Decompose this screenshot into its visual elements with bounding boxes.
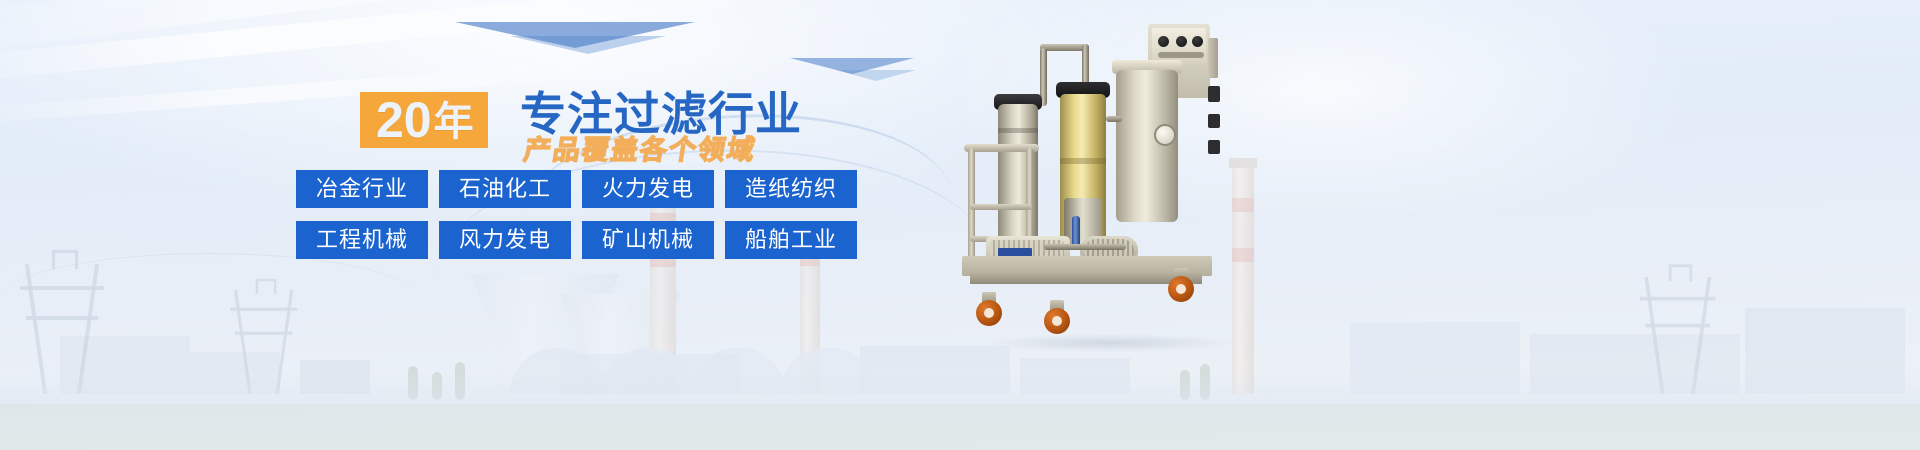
industry-tag-thermal-power[interactable]: 火力发电: [582, 170, 714, 208]
control-switch-bar: [1158, 52, 1204, 58]
pressure-gauge-icon: [1154, 124, 1176, 146]
side-fitting-block: [1208, 86, 1220, 102]
side-fitting-block: [1208, 114, 1220, 128]
years-unit: 年: [434, 102, 474, 142]
control-knob-icon: [1158, 36, 1169, 47]
caster-wheel: [976, 300, 1002, 326]
hero-copy: 20 年 专注过滤行业 产品覆盖各个领域: [296, 92, 876, 148]
side-fitting-block: [1208, 140, 1220, 154]
pipe-bottom-horizontal: [1044, 244, 1126, 250]
industry-tag-list: 冶金行业 石油化工 火力发电 造纸纺织 工程机械 风力发电 矿山机械 船舶工业: [296, 170, 866, 272]
industry-tag-construction-machinery[interactable]: 工程机械: [296, 221, 428, 259]
control-side-panel: [1208, 38, 1218, 78]
years-badge: 20 年: [360, 92, 488, 148]
caster-wheel: [1044, 308, 1070, 334]
industry-tag-row: 冶金行业 石油化工 火力发电 造纸纺织: [296, 170, 866, 208]
pipe-connector: [1106, 116, 1122, 122]
cart-base-plate-lower: [970, 272, 1202, 284]
industry-tag-petrochemical[interactable]: 石油化工: [439, 170, 571, 208]
filter-vessel-band: [1060, 158, 1106, 164]
push-handle-rail: [970, 204, 1032, 210]
filter-vessel-band: [998, 128, 1038, 133]
years-number: 20: [376, 95, 432, 145]
industry-tag-wind-power[interactable]: 风力发电: [439, 221, 571, 259]
hero-banner: 20 年 专注过滤行业 产品覆盖各个领域 冶金行业 石油化工 火力发电 造纸纺织…: [0, 0, 1920, 450]
product-image: [940, 8, 1270, 348]
control-knob-icon: [1192, 36, 1203, 47]
main-tank: [1116, 70, 1178, 222]
hero-subline: 产品覆盖各个领域: [521, 134, 758, 166]
control-knob-icon: [1176, 36, 1187, 47]
chevron-decoration-2: [510, 36, 666, 54]
grass-band: [0, 404, 1920, 450]
chevron-decoration-4: [836, 70, 916, 81]
industry-tag-metallurgy[interactable]: 冶金行业: [296, 170, 428, 208]
caster-wheel: [1168, 276, 1194, 302]
industry-tag-mining-machinery[interactable]: 矿山机械: [582, 221, 714, 259]
industry-tag-paper-textile[interactable]: 造纸纺织: [725, 170, 857, 208]
industry-tag-shipbuilding[interactable]: 船舶工业: [725, 221, 857, 259]
industry-tag-row: 工程机械 风力发电 矿山机械 船舶工业: [296, 221, 866, 259]
